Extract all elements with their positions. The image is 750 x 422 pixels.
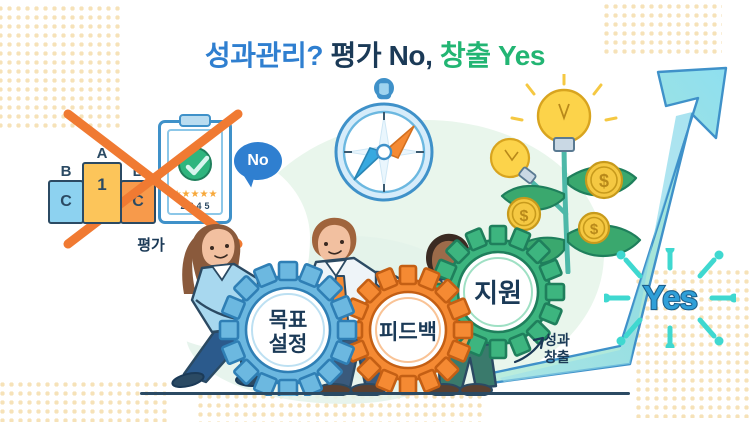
page-title: 성과관리? 평가 No, 창출 Yes [0, 34, 750, 74]
gear-goal-setting: 목표 설정 [220, 262, 356, 396]
team-gears-scene: 지원 [140, 196, 610, 396]
gear-feedback: 피드백 [344, 266, 472, 394]
title-part-yes: 창출 Yes [440, 40, 545, 71]
yes-burst: Yes [604, 248, 736, 348]
outcome-label-line1: 성과 [544, 332, 570, 349]
infographic-canvas: 성과관리? 평가 No, 창출 Yes B C A 1 B C [0, 0, 750, 422]
dot-grid-bottom-middle [196, 392, 486, 422]
ground-line [140, 392, 630, 395]
lightbulb-icon [512, 74, 616, 151]
gear-goal-label-line2: 설정 [269, 333, 308, 356]
outcome-label: 성과 창출 [544, 332, 570, 365]
outcome-label-line2: 창출 [544, 349, 570, 366]
compass-icon [318, 78, 450, 208]
gear-goal-label-line1: 목표 [269, 309, 308, 332]
podium-block-first: A 1 [82, 162, 122, 224]
callout-arrow-icon [512, 336, 546, 364]
gear-support-label: 지원 [474, 278, 522, 308]
lightbulb-small-icon [491, 139, 536, 184]
no-bubble-label: No [247, 152, 268, 170]
gear-feedback-label: 피드백 [379, 321, 437, 344]
title-part-no: 평가 No, [330, 40, 432, 71]
title-part-question: 성과관리? [205, 40, 323, 71]
coin-icon: $ [586, 162, 622, 198]
podium-face-label: 1 [97, 175, 106, 195]
svg-text:$: $ [599, 171, 609, 191]
podium-grade-label: A [97, 145, 108, 162]
yes-label: Yes [604, 248, 736, 348]
